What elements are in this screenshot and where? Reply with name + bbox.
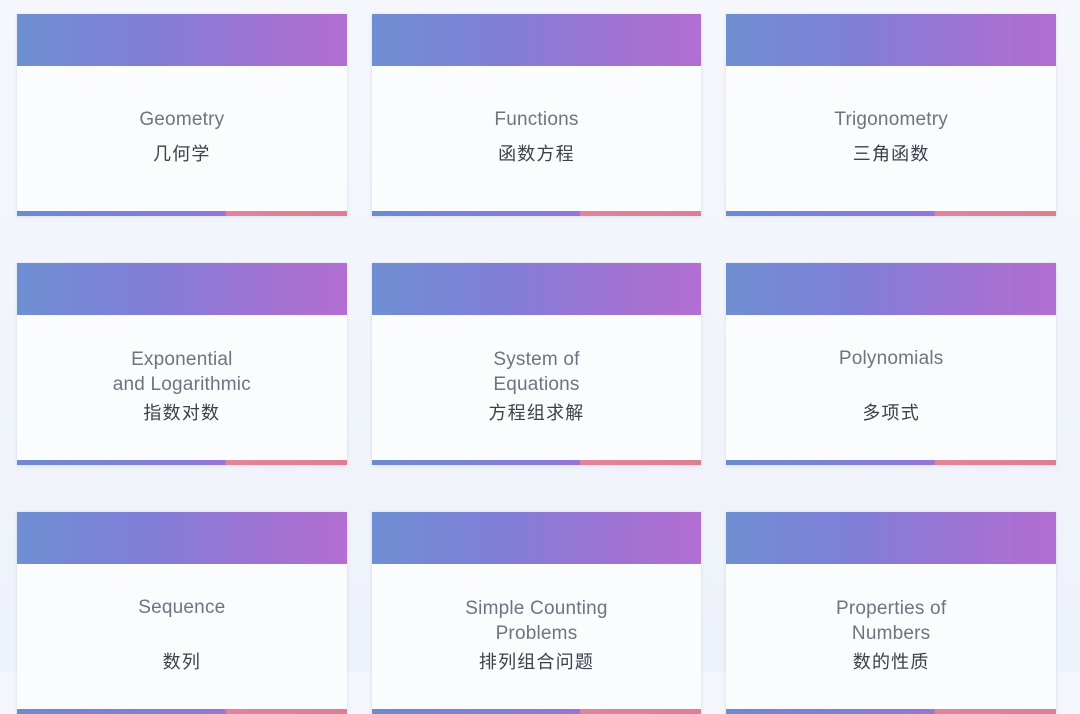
card-title-en: Simple Counting Problems — [465, 596, 607, 646]
card-header-banner — [372, 14, 702, 66]
card-body: Geometry 几何学 — [17, 66, 347, 211]
card-body: System of Equations 方程组求解 — [372, 315, 702, 460]
card-title-zh: 排列组合问题 — [479, 650, 594, 674]
card-body: Exponential and Logarithmic 指数对数 — [17, 315, 347, 460]
card-title-zh: 多项式 — [862, 401, 920, 425]
card-header-banner — [372, 263, 702, 315]
card-body: Trigonometry 三角函数 — [726, 66, 1056, 211]
topic-card-functions[interactable]: Functions 函数方程 — [372, 14, 702, 216]
topic-card-geometry[interactable]: Geometry 几何学 — [17, 14, 347, 216]
card-progress-bar — [17, 211, 347, 216]
card-progress-bar — [726, 709, 1056, 714]
card-title-en: Properties of Numbers — [836, 596, 946, 646]
card-progress-bar — [726, 460, 1056, 465]
card-progress-bar — [17, 460, 347, 465]
topic-card-sequence[interactable]: Sequence 数列 — [17, 512, 347, 714]
card-header-banner — [726, 512, 1056, 564]
card-title-en: Polynomials — [839, 346, 944, 371]
card-header-banner — [726, 14, 1056, 66]
card-body: Sequence 数列 — [17, 564, 347, 709]
card-title-zh: 指数对数 — [143, 401, 220, 425]
card-title-en: Sequence — [138, 595, 225, 620]
card-title-zh: 数的性质 — [853, 650, 930, 674]
card-title-zh: 函数方程 — [498, 142, 575, 166]
topic-card-exponential-and-logarithmic[interactable]: Exponential and Logarithmic 指数对数 — [17, 263, 347, 465]
topic-card-properties-of-numbers[interactable]: Properties of Numbers 数的性质 — [726, 512, 1056, 714]
card-progress-bar — [372, 709, 702, 714]
card-title-en: Exponential and Logarithmic — [113, 347, 251, 397]
card-progress-bar — [372, 460, 702, 465]
card-header-banner — [726, 263, 1056, 315]
card-title-zh: 三角函数 — [853, 142, 930, 166]
card-title-zh: 几何学 — [153, 142, 211, 166]
topic-card-polynomials[interactable]: Polynomials 多项式 — [726, 263, 1056, 465]
card-header-banner — [17, 14, 347, 66]
card-progress-bar — [726, 211, 1056, 216]
card-body: Simple Counting Problems 排列组合问题 — [372, 564, 702, 709]
card-title-zh: 数列 — [163, 650, 201, 674]
card-title-en: Trigonometry — [834, 107, 948, 132]
card-header-banner — [372, 512, 702, 564]
card-body: Properties of Numbers 数的性质 — [726, 564, 1056, 709]
card-header-banner — [17, 263, 347, 315]
topic-card-trigonometry[interactable]: Trigonometry 三角函数 — [726, 14, 1056, 216]
card-body: Functions 函数方程 — [372, 66, 702, 211]
card-title-en: Geometry — [139, 107, 224, 132]
topic-card-grid: Geometry 几何学 Functions 函数方程 Trigonometry… — [0, 0, 1080, 672]
topic-card-simple-counting-problems[interactable]: Simple Counting Problems 排列组合问题 — [372, 512, 702, 714]
topic-card-system-of-equations[interactable]: System of Equations 方程组求解 — [372, 263, 702, 465]
card-progress-bar — [17, 709, 347, 714]
card-title-en: Functions — [494, 107, 578, 132]
card-header-banner — [17, 512, 347, 564]
card-title-zh: 方程组求解 — [488, 401, 584, 425]
card-body: Polynomials 多项式 — [726, 315, 1056, 460]
card-progress-bar — [372, 211, 702, 216]
card-title-en: System of Equations — [493, 347, 579, 397]
